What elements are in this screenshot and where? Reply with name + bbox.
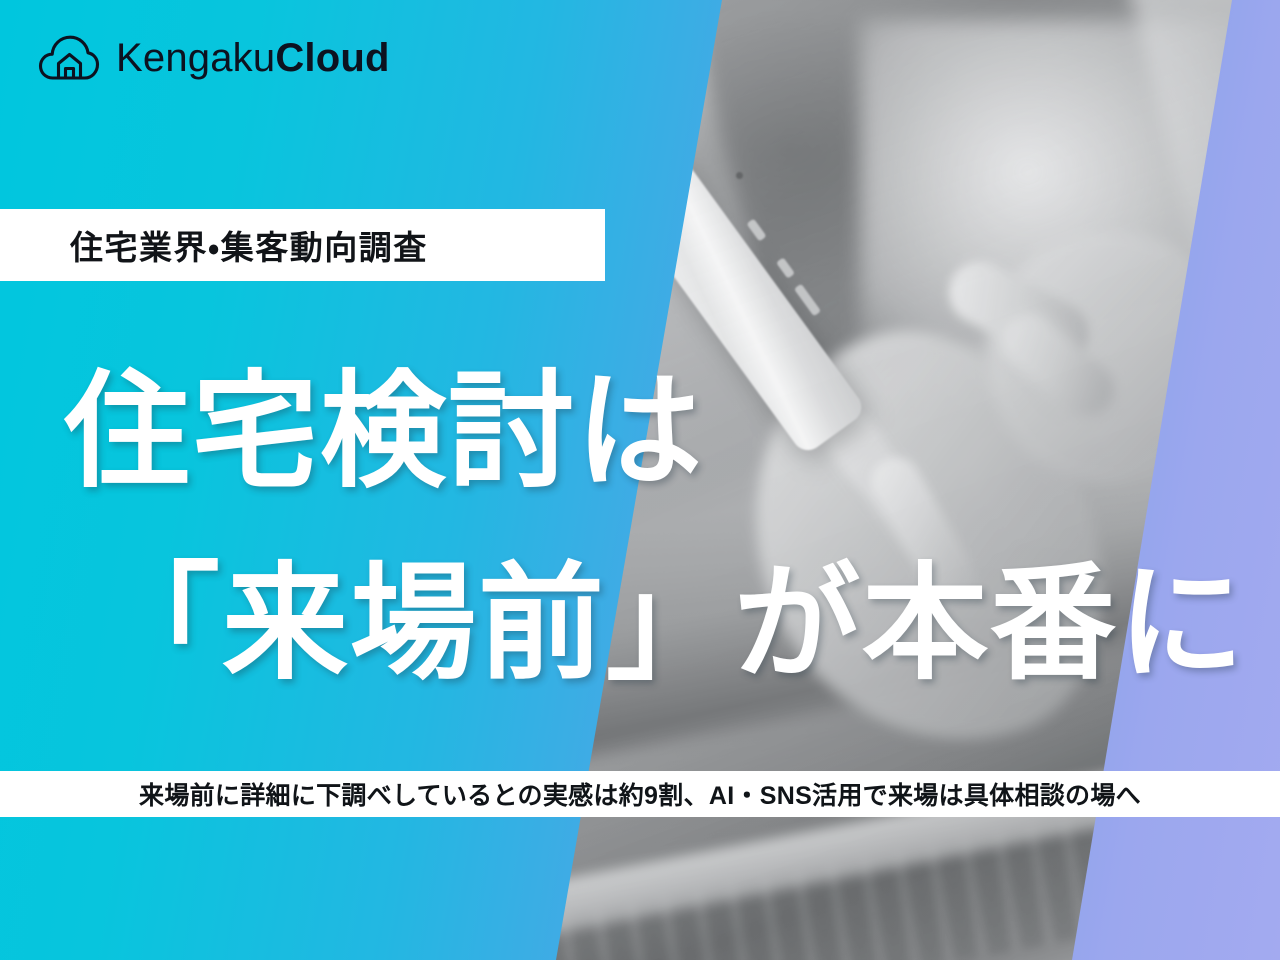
brand-wordmark: KengakuCloud	[116, 38, 390, 78]
key-visual-banner: KengakuCloud 住宅業界・集客動向調査 住宅検討は 「来場前」が本番に…	[0, 0, 1280, 960]
category-badge: 住宅業界・集客動向調査	[0, 209, 605, 281]
subtitle-text: 来場前に詳細に下調べしているとの実感は約9割、AI・SNS活用で来場は具体相談の…	[139, 776, 1141, 812]
headline-line-1: 住宅検討は	[64, 336, 1264, 528]
category-badge-label: 住宅業界・集客動向調査	[70, 221, 428, 269]
subtitle-bar: 来場前に詳細に下調べしているとの実感は約9割、AI・SNS活用で来場は具体相談の…	[0, 771, 1280, 817]
headline: 住宅検討は 「来場前」が本番に	[64, 336, 1264, 719]
brand-name-light: Kengaku	[116, 36, 275, 80]
brand-name-bold: Cloud	[275, 36, 389, 80]
cloud-house-icon	[38, 33, 100, 83]
headline-line-2: 「来場前」が本番に	[94, 528, 1264, 720]
brand-logo: KengakuCloud	[38, 33, 390, 83]
